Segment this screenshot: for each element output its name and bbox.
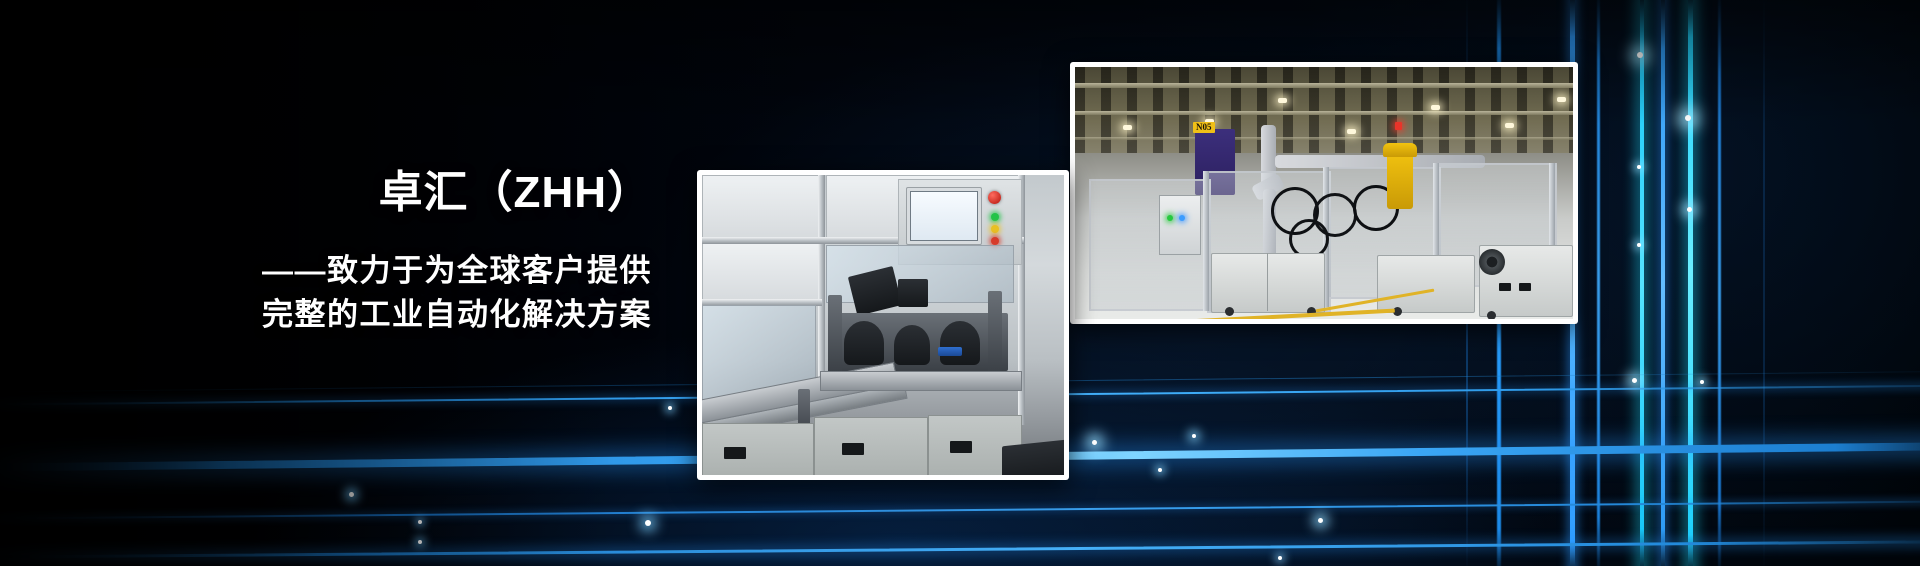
banner-subtitle-line-1: ——致力于为全球客户提供 xyxy=(0,249,652,293)
yellow-robot-head xyxy=(1383,143,1417,157)
ceiling-lamp xyxy=(1557,97,1566,102)
vertical-light-line-7 xyxy=(1718,0,1721,566)
cooling-fan xyxy=(1479,249,1505,275)
equipment-sign-n05: N05 xyxy=(1193,122,1215,133)
machine-arm xyxy=(988,291,1002,373)
ceiling-lamp xyxy=(1123,125,1132,130)
ceiling-lamp xyxy=(1505,123,1514,128)
cabinet-vent xyxy=(1519,283,1531,291)
tooling-head xyxy=(898,279,928,307)
cabinet-vent xyxy=(1499,283,1511,291)
cabinet-divider xyxy=(1267,253,1268,311)
cage-post xyxy=(1203,171,1209,311)
banner-text-block: 卓汇（ZHH） ——致力于为全球客户提供 完整的工业自动化解决方案 xyxy=(0,168,800,337)
machine-arm xyxy=(828,295,842,373)
machine-base-cabinet xyxy=(702,423,814,475)
ceiling-beam xyxy=(1075,111,1573,115)
ceiling-lamp xyxy=(1347,129,1356,134)
machine-mechanism xyxy=(940,321,980,365)
cabinet-vent xyxy=(842,443,864,455)
machine-base-cabinet xyxy=(814,417,928,475)
vertical-light-line-4 xyxy=(1640,0,1644,566)
status-led-green xyxy=(991,213,999,221)
ceiling-beam xyxy=(1075,83,1573,88)
machine-cabinet xyxy=(1377,255,1475,313)
ceiling-beam xyxy=(1075,137,1573,140)
vertical-light-line-5 xyxy=(1661,0,1665,566)
vertical-light-line-6 xyxy=(1688,0,1693,566)
machine-cabinet xyxy=(1211,253,1325,313)
equipment-caster xyxy=(1487,311,1496,319)
vertical-light-line-3 xyxy=(1597,0,1600,566)
banner-subtitle-line-2: 完整的工业自动化解决方案 xyxy=(0,293,652,337)
hero-banner: N05 xyxy=(0,0,1920,566)
blue-component xyxy=(938,347,962,356)
production-line-photo-image: N05 xyxy=(1075,67,1573,319)
production-line-photo[interactable]: N05 xyxy=(1070,62,1578,324)
machine-mechanism xyxy=(894,325,930,365)
machine-side-table xyxy=(1002,440,1064,475)
emergency-stop-button[interactable] xyxy=(988,191,1001,204)
cabinet-vent xyxy=(724,447,746,459)
status-led-yellow xyxy=(991,225,999,233)
machine-mechanism xyxy=(844,321,884,365)
yellow-robot xyxy=(1387,151,1413,209)
equipment-caster xyxy=(1225,307,1234,316)
hmi-screen xyxy=(910,191,978,241)
conveyor-belt xyxy=(820,371,1022,391)
banner-headline: 卓汇（ZHH） xyxy=(0,168,652,219)
vertical-light-line-faint-2 xyxy=(1763,0,1765,566)
hmi-touch-panel[interactable] xyxy=(906,187,982,245)
control-panel-box xyxy=(1159,195,1201,255)
ceiling-lamp xyxy=(1431,105,1440,110)
status-led-red xyxy=(991,237,999,245)
ceiling-lamp xyxy=(1278,98,1287,103)
cabinet-vent xyxy=(950,441,972,453)
